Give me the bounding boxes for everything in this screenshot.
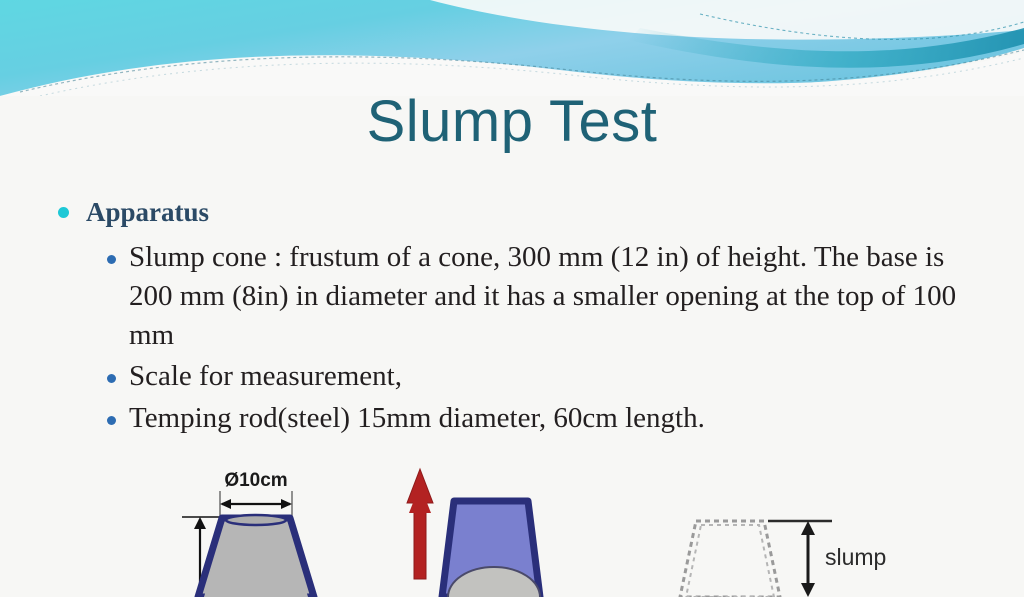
figure-slump-cone-filled: Ø10cm [178, 455, 398, 597]
figure-row: Ø10cm [0, 455, 1024, 597]
bullet-level2-label: Slump cone : frustum of a cone, 300 mm (… [129, 238, 964, 354]
bullet-level1-label: Apparatus [86, 196, 209, 228]
figure-slump-measure: slump [660, 455, 940, 597]
list-item: Slump cone : frustum of a cone, 300 mm (… [40, 238, 990, 354]
bullet-dot-icon [107, 255, 116, 264]
cone-dashed-outline-inner [686, 525, 774, 597]
header-decoration [0, 0, 1024, 96]
bullet-level2-label: Temping rod(steel) 15mm diameter, 60cm l… [129, 399, 705, 438]
bullet-dot-icon [107, 416, 116, 425]
bullet-level1-apparatus: Apparatus [40, 196, 990, 228]
dimension-label: Ø10cm [224, 470, 287, 491]
slump-label: slump [825, 544, 886, 570]
bullet-dot-icon [58, 207, 69, 218]
page-title: Slump Test [0, 92, 1024, 153]
slide: Slump Test Apparatus Slump cone : frustu… [0, 0, 1024, 597]
list-item: Temping rod(steel) 15mm diameter, 60cm l… [40, 399, 990, 438]
content-body: Apparatus Slump cone : frustum of a cone… [40, 196, 990, 440]
cone-top-rim [226, 515, 286, 525]
cone-dashed-outline [680, 521, 780, 597]
bullet-level2-label: Scale for measurement, [129, 357, 402, 396]
list-item: Scale for measurement, [40, 357, 990, 396]
figure-cone-lift [398, 455, 598, 597]
lift-arrow-icon [407, 469, 433, 579]
bullet-dot-icon [107, 374, 116, 383]
